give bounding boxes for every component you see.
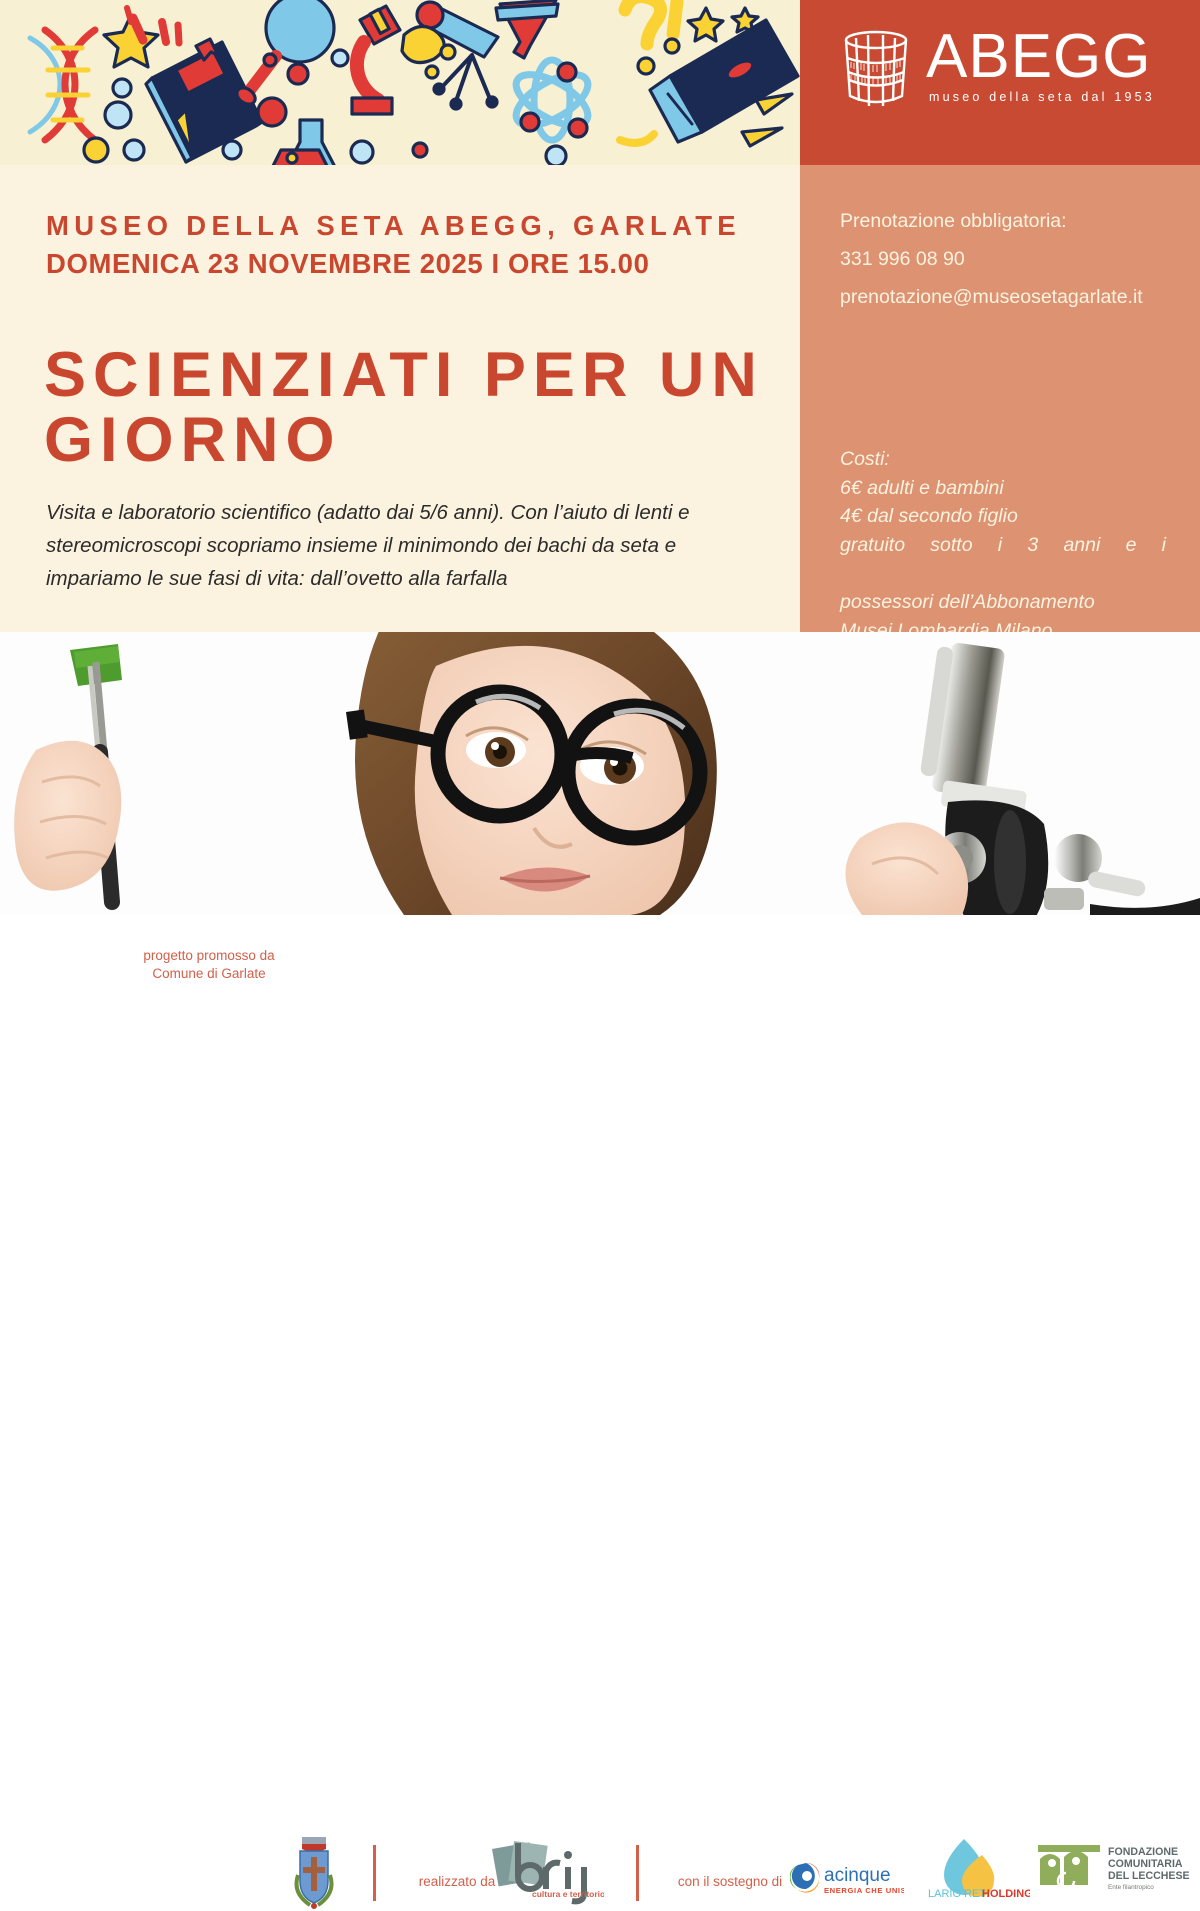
promoted-by-label: progetto promosso da Comune di Garlate: [124, 947, 294, 983]
event-title: SCIENZIATI PER UN GIORNO: [44, 343, 774, 473]
svg-text:LARIO RETI: LARIO RETI: [928, 1888, 989, 1900]
promoted-by-line-1: progetto promosso da: [124, 947, 294, 965]
svg-text:Ente filantropico: Ente filantropico: [1108, 1884, 1154, 1891]
event-datetime: DOMENICA 23 NOVEMBRE 2025 I ORE 15.00: [46, 245, 741, 283]
lario-reti-holding-logo: LARIO RETI HOLDING: [920, 1837, 1030, 1903]
fondazione-comunitaria-del-lecchese-logo: FONDAZIONE COMUNITARIA DEL LECCHESE Ente…: [1036, 1843, 1192, 1899]
footer-divider-2: [636, 1845, 639, 1901]
bubble-icon: [113, 79, 131, 97]
event-description: Visita e laboratorio scientifico (adatto…: [46, 496, 758, 596]
promoted-by-line-2: Comune di Garlate: [124, 965, 294, 983]
silk-mill-basket-icon: [840, 28, 912, 110]
booking-email[interactable]: prenotazione@museosetagarlate.it: [840, 278, 1170, 316]
event-kicker: MUSEO DELLA SETA ABEGG, GARLATE DOMENICA…: [46, 207, 741, 283]
svg-text:acinque: acinque: [824, 1865, 891, 1886]
event-photo: [0, 632, 1200, 915]
sponsor-footer: progetto promosso da Comune di Garlate r…: [0, 915, 1200, 1000]
event-title-line2: GIORNO: [44, 408, 774, 473]
costs-info: Costi: 6€ adulti e bambini 4€ dal second…: [840, 445, 1166, 646]
footer-divider-1: [373, 1845, 376, 1901]
costs-line-4: possessori dell’Abbonamento: [840, 588, 1166, 617]
booking-heading: Prenotazione obbligatoria:: [840, 202, 1170, 240]
costs-line-2: 4€ dal secondo figlio: [840, 502, 1166, 531]
costs-line-1: 6€ adulti e bambini: [840, 474, 1166, 503]
acinque-logo: acinque ENERGIA CHE UNISCE: [790, 1859, 904, 1899]
comune-di-garlate-crest-icon: [286, 1835, 342, 1911]
logo-wordmark: ABEGG: [926, 28, 1155, 85]
science-doodles-banner: [0, 0, 800, 165]
svg-text:HOLDING: HOLDING: [982, 1888, 1030, 1900]
svg-text:DEL LECCHESE: DEL LECCHESE: [1108, 1870, 1190, 1882]
abegg-logo: ABEGG museo della seta dal 1953: [840, 28, 1155, 110]
supported-by-label: con il sostegno di: [660, 1873, 800, 1891]
booking-info: Prenotazione obbligatoria: 331 996 08 90…: [840, 202, 1170, 316]
brig-logo: cultura e territorio: [488, 1837, 604, 1905]
poster: ABEGG museo della seta dal 1953 MUSEO DE…: [0, 0, 1200, 1000]
event-title-line1: SCIENZIATI PER UN: [44, 343, 774, 408]
svg-text:COMUNITARIA: COMUNITARIA: [1108, 1858, 1183, 1870]
costs-line-3: gratuito sotto i 3 anni e i: [840, 531, 1166, 588]
booking-panel: Prenotazione obbligatoria: 331 996 08 90…: [800, 165, 1200, 632]
svg-text:ENERGIA CHE UNISCE: ENERGIA CHE UNISCE: [824, 1886, 904, 1895]
logo-tagline: museo della seta dal 1953: [926, 90, 1155, 104]
event-details-panel: MUSEO DELLA SETA ABEGG, GARLATE DOMENICA…: [0, 165, 800, 632]
costs-heading: Costi:: [840, 445, 1166, 474]
child-face: [346, 632, 717, 915]
booking-phone[interactable]: 331 996 08 90: [840, 240, 1170, 278]
svg-text:FONDAZIONE: FONDAZIONE: [1108, 1846, 1178, 1858]
event-venue: MUSEO DELLA SETA ABEGG, GARLATE: [46, 207, 741, 245]
abegg-logo-panel: ABEGG museo della seta dal 1953: [800, 0, 1200, 165]
svg-text:cultura e territorio: cultura e territorio: [532, 1889, 604, 1899]
